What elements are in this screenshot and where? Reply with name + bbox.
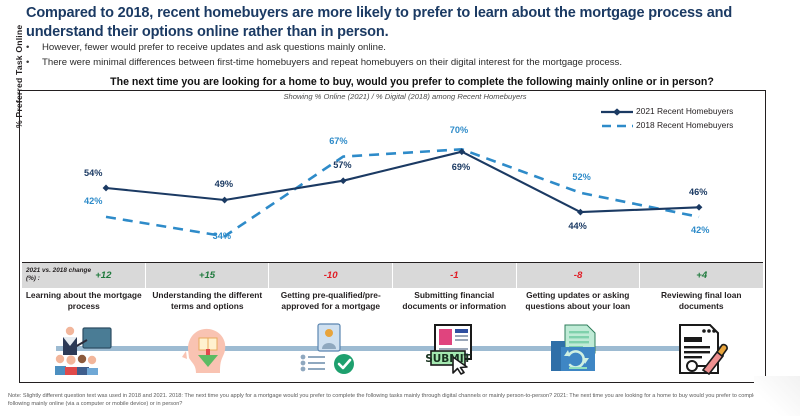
data-label-2018: 70% xyxy=(450,125,468,135)
change-cell: +15 xyxy=(146,263,270,288)
change-cell: -8 xyxy=(517,263,641,288)
category-label: Learning about the mortgage process xyxy=(22,290,146,316)
category-label: Reviewing final loan documents xyxy=(640,290,764,316)
submit-document-cursor-icon: SUBMIT xyxy=(393,318,517,380)
category-label: Submitting financial documents or inform… xyxy=(393,290,517,316)
data-label-2018: 42% xyxy=(84,196,102,206)
data-point-marker-2021 xyxy=(103,185,110,192)
category-label-row: Learning about the mortgage processUnder… xyxy=(22,290,763,316)
corner-decoration xyxy=(754,376,800,416)
bullet-marker-icon: • xyxy=(26,56,42,70)
data-label-2018: 42% xyxy=(691,225,709,235)
bullet-marker-icon: • xyxy=(26,41,42,55)
change-value: +12 xyxy=(95,270,111,281)
category-label: Understanding the different terms and op… xyxy=(146,290,270,316)
chart-plot-area: 42%34%67%70%52%42%54%49%57%69%44%46% xyxy=(19,90,766,265)
list-item: • There were minimal differences between… xyxy=(26,56,768,70)
data-label-2018: 34% xyxy=(213,231,231,241)
data-point-marker-2021 xyxy=(221,197,228,204)
slide-root: Compared to 2018, recent homebuyers are … xyxy=(0,0,800,416)
data-label-2018: 67% xyxy=(329,136,347,146)
data-point-marker-2021 xyxy=(340,177,347,184)
id-card-checklist-approved-icon xyxy=(269,318,393,380)
svg-text:SUBMIT: SUBMIT xyxy=(425,353,471,365)
list-item: • However, fewer would prefer to receive… xyxy=(26,41,768,55)
change-value: -1 xyxy=(450,270,459,281)
change-row-label: 2021 vs. 2018 change (%) : xyxy=(26,267,92,284)
change-value: -8 xyxy=(574,270,583,281)
icon-strip: SUBMIT xyxy=(22,318,763,380)
data-label-2021: 46% xyxy=(689,187,707,197)
head-with-book-icon xyxy=(146,318,270,380)
data-label-2018: 52% xyxy=(572,172,590,182)
data-label-2021: 44% xyxy=(568,221,586,231)
change-cell: +4 xyxy=(640,263,763,288)
category-label: Getting pre-qualified/pre-approved for a… xyxy=(269,290,393,316)
data-label-2021: 69% xyxy=(452,162,470,172)
data-label-2021: 57% xyxy=(333,160,351,170)
series-line-2021 xyxy=(106,152,699,212)
change-value: +4 xyxy=(696,270,707,281)
document-refresh-folder-icon xyxy=(516,318,640,380)
change-value: -10 xyxy=(324,270,338,281)
category-label: Getting updates or asking questions abou… xyxy=(516,290,640,316)
presentation-teaching-icon xyxy=(22,318,146,380)
bullet-list: • However, fewer would prefer to receive… xyxy=(26,41,768,71)
bullet-text: There were minimal differences between f… xyxy=(42,56,622,70)
change-cell: -1 xyxy=(393,263,517,288)
page-title: Compared to 2018, recent homebuyers are … xyxy=(26,4,768,42)
icon-row: SUBMIT xyxy=(22,318,763,380)
change-value: +15 xyxy=(199,270,215,281)
bullet-text: However, fewer would prefer to receive u… xyxy=(42,41,386,55)
line-chart-svg xyxy=(19,90,766,265)
series-line-2018 xyxy=(106,149,699,236)
data-point-marker-2021 xyxy=(696,204,703,211)
change-row: 2021 vs. 2018 change (%) :+12+15-10-1-8+… xyxy=(22,262,763,288)
change-cell: 2021 vs. 2018 change (%) :+12 xyxy=(22,263,146,288)
data-label-2021: 54% xyxy=(84,168,102,178)
signed-contract-stamp-icon xyxy=(640,318,764,380)
chart-title: The next time you are looking for a home… xyxy=(56,76,768,89)
change-cell: -10 xyxy=(269,263,393,288)
data-label-2021: 49% xyxy=(215,179,233,189)
footnote: Note: Slightly different question text w… xyxy=(8,392,792,409)
